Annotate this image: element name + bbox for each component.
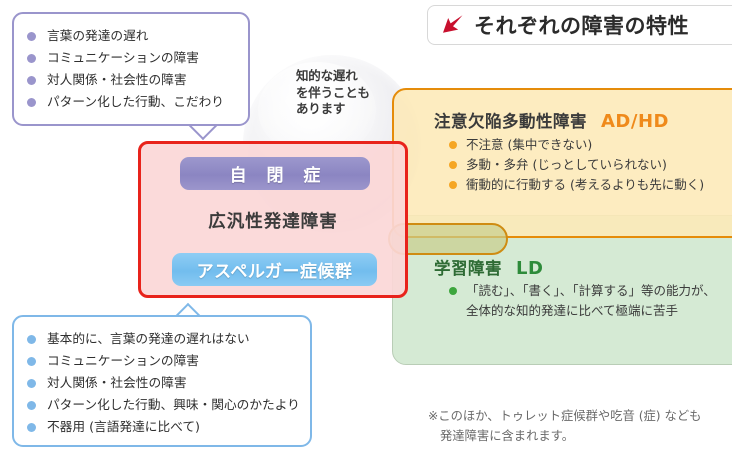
adhd-symptom-list: 不注意 (集中できない) 多動・多弁 (じっとしていられない) 衝動的に行動する… [447, 135, 704, 195]
adhd-title-abbr: AD/HD [601, 111, 669, 132]
asperger-traits-callout: 基本的に、言葉の発達の遅れはない コミュニケーションの障害 対人関係・社会性の障… [12, 315, 312, 447]
ld-symptom-list: 「読む」、「書く」、「計算する」等の能力が、 全体的な知的発達に比べて極端に苦手 [447, 281, 716, 321]
list-item: 全体的な知的発達に比べて極端に苦手 [447, 301, 716, 321]
list-item: 基本的に、言葉の発達の遅れはない [26, 328, 310, 350]
intellectual-delay-note-line2: を伴うことも [296, 85, 406, 102]
adhd-title: 注意欠陥多動性障害AD/HD [434, 108, 669, 132]
heading-banner: それぞれの障害の特性 [427, 5, 732, 45]
footnote: ※このほか、トゥレット症候群や吃音 (症) なども 発達障害に含まれます。 [428, 406, 728, 446]
list-item: 衝動的に行動する (考えるよりも先に動く) [447, 175, 704, 195]
list-item: パターン化した行動、興味・関心のかたより [26, 394, 310, 416]
intellectual-delay-note: 知的な遅れ を伴うことも あります [296, 68, 406, 118]
autism-pill: 自 閉 症 [180, 157, 370, 190]
arrow-down-left-icon [440, 12, 466, 38]
autism-traits-list: 言葉の発達の遅れ コミュニケーションの障害 対人関係・社会性の障害 パターン化し… [26, 25, 248, 113]
list-item: 言葉の発達の遅れ [26, 25, 248, 47]
ld-title: 学習障害LD [434, 255, 543, 279]
footnote-line2: 発達障害に含まれます。 [428, 426, 728, 446]
list-item: コミュニケーションの障害 [26, 350, 310, 372]
adhd-title-jp: 注意欠陥多動性障害 [434, 112, 587, 131]
list-item: パターン化した行動、こだわり [26, 91, 248, 113]
pdd-label: 広汎性発達障害 [138, 208, 408, 233]
list-item: 対人関係・社会性の障害 [26, 372, 310, 394]
page-title: それぞれの障害の特性 [474, 10, 689, 40]
diagram-canvas: 知的な遅れ を伴うことも あります 注意欠陥多動性障害AD/HD 不注意 (集中… [0, 0, 732, 457]
asperger-traits-list: 基本的に、言葉の発達の遅れはない コミュニケーションの障害 対人関係・社会性の障… [26, 328, 310, 438]
footnote-line1: ※このほか、トゥレット症候群や吃音 (症) なども [428, 409, 701, 423]
intellectual-delay-note-line1: 知的な遅れ [296, 68, 406, 85]
list-item: コミュニケーションの障害 [26, 47, 248, 69]
autism-traits-callout: 言葉の発達の遅れ コミュニケーションの障害 対人関係・社会性の障害 パターン化し… [12, 12, 250, 126]
list-item: 「読む」、「書く」、「計算する」等の能力が、 [447, 281, 716, 301]
intellectual-delay-note-line3: あります [296, 101, 406, 118]
list-item: 不器用 (言語発達に比べて) [26, 416, 310, 438]
ld-title-abbr: LD [516, 258, 543, 279]
ld-title-jp: 学習障害 [434, 259, 502, 278]
list-item: 不注意 (集中できない) [447, 135, 704, 155]
list-item: 多動・多弁 (じっとしていられない) [447, 155, 704, 175]
asperger-pill: アスペルガー症候群 [172, 253, 377, 286]
list-item: 対人関係・社会性の障害 [26, 69, 248, 91]
